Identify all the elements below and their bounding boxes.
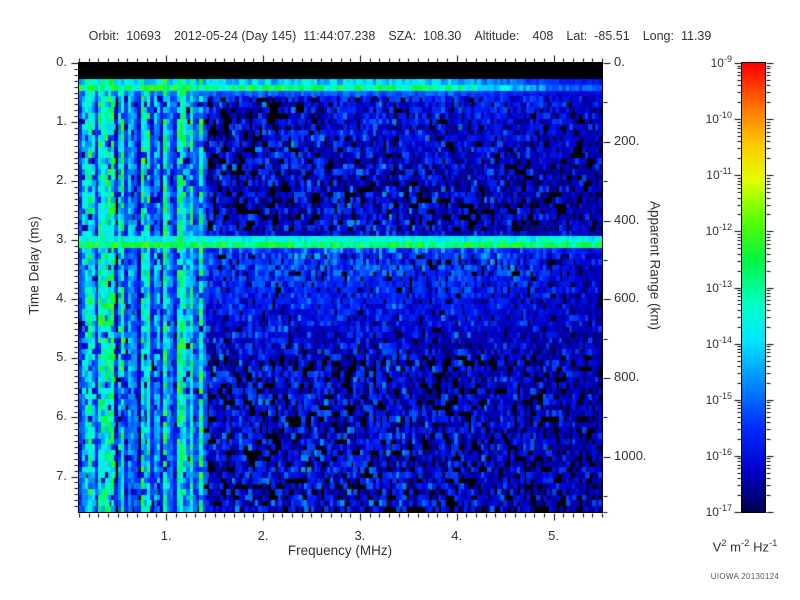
- y-axis-left-tick-label: 3.: [17, 231, 67, 246]
- latitude-value: -85.51: [594, 29, 629, 43]
- y-axis-left-tick-label: 1.: [17, 113, 67, 128]
- longitude-label: Long:: [643, 29, 674, 43]
- longitude-value: 11.39: [681, 29, 711, 43]
- colorbar-units-label: V2 m-2 Hz-1: [690, 538, 800, 554]
- colorbar-tick-exponent: -17: [719, 503, 732, 513]
- colorbar-tick-label: 10-12: [680, 222, 732, 238]
- colorbar-tick-label: 10-9: [680, 54, 732, 70]
- units-hertz-exponent: -1: [769, 538, 777, 549]
- orbit-value: 10693: [126, 29, 161, 43]
- latitude-label: Lat:: [566, 29, 587, 43]
- colorbar-tick-mantissa: 10: [706, 337, 719, 351]
- observation-time: 11:44:07.238: [303, 29, 375, 43]
- ionogram-heatmap-canvas: [79, 63, 602, 512]
- ionogram-plot-area: [78, 62, 603, 513]
- y-axis-left-tick-label: 7.: [17, 468, 67, 483]
- colorbar-tick-exponent: -16: [719, 447, 732, 457]
- units-volt: V: [713, 539, 722, 554]
- colorbar-tick-mantissa: 10: [706, 281, 719, 295]
- y-axis-right-tick-label: 0.: [614, 54, 625, 69]
- units-hertz: Hz: [749, 539, 769, 554]
- credit-label: UIOWA 20130124: [690, 572, 800, 581]
- colorbar-tick-exponent: -11: [720, 166, 732, 176]
- observation-date: 2012-05-24 (Day 145): [174, 29, 296, 43]
- colorbar-tick-label: 10-11: [680, 166, 732, 182]
- y-axis-right-tick-label: 600.: [614, 290, 639, 305]
- x-axis-tick-label: 3.: [335, 528, 385, 543]
- colorbar-tick-label: 10-17: [680, 503, 732, 519]
- colorbar-tick-mantissa: 10: [706, 505, 719, 519]
- y-axis-left-title: Time Delay (ms): [27, 186, 42, 346]
- orbit-label: Orbit:: [89, 29, 120, 43]
- colorbar-tick-mantissa: 10: [711, 56, 724, 70]
- units-metre: m: [727, 539, 741, 554]
- x-axis-tick-label: 1.: [141, 528, 191, 543]
- colorbar-tick-label: 10-14: [680, 335, 732, 351]
- sza-label: SZA:: [388, 29, 416, 43]
- altitude-label: Altitude:: [474, 29, 519, 43]
- colorbar-gradient-canvas: [742, 63, 765, 512]
- y-axis-left-tick-label: 6.: [17, 408, 67, 423]
- colorbar-tick-mantissa: 10: [706, 224, 719, 238]
- sza-value: 108.30: [423, 29, 461, 43]
- colorbar-tick-exponent: -10: [719, 110, 732, 120]
- y-axis-left-tick-label: 0.: [17, 54, 67, 69]
- colorbar-tick-exponent: -14: [719, 335, 732, 345]
- y-axis-left-tick-label: 2.: [17, 172, 67, 187]
- colorbar-tick-label: 10-10: [680, 110, 732, 126]
- x-axis-tick-label: 4.: [432, 528, 482, 543]
- ionogram-figure: Orbit:106932012-05-24 (Day 145)11:44:07.…: [0, 0, 800, 600]
- colorbar-tick-mantissa: 10: [706, 112, 719, 126]
- header-info-line: Orbit:106932012-05-24 (Day 145)11:44:07.…: [0, 29, 800, 43]
- colorbar-tick-exponent: -15: [719, 391, 732, 401]
- colorbar-tick-exponent: -9: [724, 54, 732, 64]
- colorbar-tick-mantissa: 10: [706, 168, 719, 182]
- y-axis-right-tick-label: 400.: [614, 212, 639, 227]
- colorbar-tick-exponent: -12: [719, 222, 732, 232]
- colorbar-tick-mantissa: 10: [706, 393, 719, 407]
- y-axis-left-tick-label: 4.: [17, 290, 67, 305]
- y-axis-right-title: Apparent Range (km): [648, 186, 663, 346]
- colorbar-tick-mantissa: 10: [706, 449, 719, 463]
- altitude-value: 408: [533, 29, 554, 43]
- x-axis-tick-label: 5.: [529, 528, 579, 543]
- y-axis-right-tick-label: 200.: [614, 133, 639, 148]
- colorbar-tick-label: 10-15: [680, 391, 732, 407]
- y-axis-right-tick-label: 1000.: [614, 448, 647, 463]
- colorbar-tick-exponent: -13: [719, 279, 732, 289]
- colorbar-tick-label: 10-16: [680, 447, 732, 463]
- colorbar-tick-label: 10-13: [680, 279, 732, 295]
- x-axis-title: Frequency (MHz): [200, 543, 480, 558]
- colorbar: [741, 62, 766, 513]
- y-axis-right-tick-label: 800.: [614, 369, 639, 384]
- y-axis-left-tick-label: 5.: [17, 349, 67, 364]
- x-axis-tick-label: 2.: [238, 528, 288, 543]
